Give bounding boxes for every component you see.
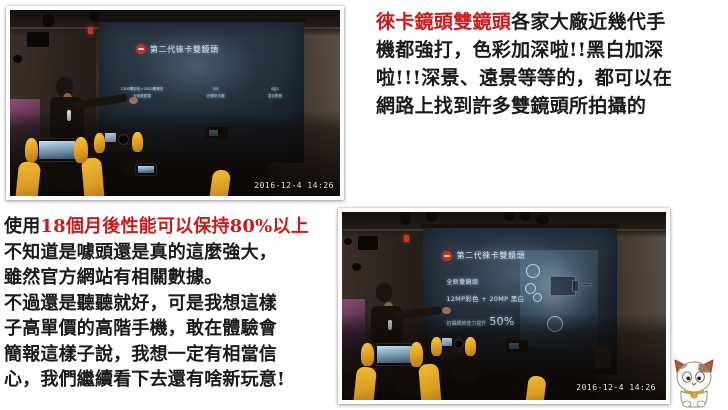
presenter-head [376,283,392,302]
audience-arm [209,169,232,196]
slide-column: 4合1 混合對焦 [268,86,282,100]
presentation-photo-bottom[interactable]: 第二代徠卡雙鏡頭 全新雙鏡頭 12MP彩色 + 20MP 黑白 拍攝細節能力提升… [338,208,670,404]
caption-text: 不知道是噱頭還是真的這麼強大， [4,242,277,263]
exit-sign-icon [404,235,409,242]
caption-line: 心，我們繼續看下去還有啥新玩意! [4,367,334,393]
photo-timestamp: 2016-12-4 14:26 [254,181,334,190]
photo-bottom-content: 第二代徠卡雙鏡頭 全新雙鏡頭 12MP彩色 + 20MP 黑白 拍攝細節能力提升… [342,212,666,400]
audience-arm [14,161,40,196]
photo-timestamp: 2016-12-4 14:26 [576,383,656,392]
security-camera-icon [13,55,22,63]
lens-ring-icon [533,293,542,302]
caption-line: 雖然官方網站有相關數據。 [4,265,334,291]
caption-line: 子高單價的高階手機，敢在體驗會 [4,316,334,342]
security-camera-icon [352,263,361,271]
slide-column-sub: 光學防手震 [207,93,225,100]
speaker-box-bottom [358,236,378,250]
slide-title-row-top: 第二代徠卡雙鏡頭 [136,44,219,55]
speaker-box-top [27,32,49,47]
slide-column: OIS 光學防手震 [207,86,225,100]
caption-text: 各家大廠近幾代手 [511,11,665,33]
caption-text: 使用 [4,216,40,237]
audience-head [452,355,482,383]
caption-line: 網路上找到許多雙鏡頭所拍攝的 [376,92,724,120]
bottom-left-caption: 使用18個月後性能可以保持80%以上 不知道是噱頭還是真的這麼強大， 雖然官方網… [4,214,334,393]
caption-text: 機都強打，色彩加深啦!!黑白加深 [376,39,663,61]
presentation-photo-top[interactable]: 第二代徠卡雙鏡頭 1200萬彩色+2000萬黑白 全新雙鏡頭 OIS 光學防手震… [6,6,344,200]
audience-phone-screen [377,346,411,363]
audience-phone-screen [138,166,154,173]
cat-mascot-icon [666,356,722,408]
slide-column-sub: 混合對焦 [268,93,282,100]
caption-highlight: 18個月後性能可以保持80%以上 [40,216,308,237]
audience-arm [353,366,377,400]
caption-line: 啦!!!深景、遠景等等的，都可以在 [376,64,724,92]
audience-hand [465,337,476,356]
top-right-caption: 徠卡鏡頭雙鏡頭各家大廠近幾代手 機都強打，色彩加深啦!!黑白加深 啦!!!深景、… [376,8,724,120]
caption-text: 子高單價的高階手機，敢在體驗會 [4,318,277,339]
leica-logo-icon [136,44,146,54]
caption-line: 徠卡鏡頭雙鏡頭各家大廠近幾代手 [376,8,724,36]
audience-hand [132,132,143,152]
presenter-arm [73,93,128,109]
audience-camera-screen [442,338,452,346]
lens-ring-icon [526,264,540,278]
ceiling-light-icon [504,212,515,221]
caption-text: 不過還是聽聽就好，可是我想這樣 [4,293,277,314]
ceiling-light-icon [400,212,411,225]
audience-phone[interactable] [36,138,78,162]
slide-column-main: OIS [207,86,225,93]
audience-hand [74,137,88,163]
camera-module-sensor [572,280,579,292]
leica-logo-icon [442,251,452,261]
caption-text: 雖然官方網站有相關數據。 [4,267,222,288]
audience-hand [361,343,374,366]
caption-text: 心，我們繼續看下去還有啥新玩意! [4,369,285,390]
caption-line: 機都強打，色彩加深啦!!黑白加深 [376,36,724,64]
slide-column-main: 4合1 [268,86,282,93]
caption-line: 不過還是聽聽就好，可是我想這樣 [4,291,334,317]
camera-lens-icon [454,339,464,349]
slide-title-text-bottom: 第二代徠卡雙鏡頭 [456,250,525,261]
caption-highlight: 徠卡鏡頭雙鏡頭 [376,11,511,33]
security-camera-icon [344,238,352,245]
camera-lens-icon [118,134,129,145]
slide-title-text-top: 第二代徠卡雙鏡頭 [150,44,219,55]
cat-mascot [666,356,722,408]
audience-hand [431,337,442,356]
audience-phone[interactable] [135,163,157,176]
caption-text: 簡報這樣子說，我想一定有相當信 [4,344,277,365]
audience-camera[interactable] [595,346,611,368]
caption-line: 使用18個月後性能可以保持80%以上 [4,214,334,240]
caption-text: 網路上找到許多雙鏡頭所拍攝的 [376,95,646,117]
presenter-hand [129,97,138,104]
ceiling-light-icon [43,14,54,27]
audience-camera-screen [105,133,116,142]
camera-module-connector [581,283,592,286]
audience-arm [418,363,442,400]
slide-title-row-bottom: 第二代徠卡雙鏡頭 [442,250,525,261]
page-root: 第二代徠卡雙鏡頭 1200萬彩色+2000萬黑白 全新雙鏡頭 OIS 光學防手震… [0,0,728,410]
audience-phone-screen [39,141,75,159]
audience-arm [525,375,547,400]
caption-line: 不知道是噱頭還是真的這麼強大， [4,240,334,266]
audience-hand [94,133,105,153]
audience-phone[interactable] [374,343,414,366]
audience-arm [81,158,105,196]
audience-camera[interactable] [439,334,467,355]
audience-hand [25,138,38,162]
caption-text: 啦!!!深景、遠景等等的，都可以在 [376,67,672,89]
audience-camera[interactable] [102,129,132,151]
exit-sign-icon [88,27,93,34]
caption-line: 簡報這樣子說，我想一定有相當信 [4,342,334,368]
audience-hand [410,342,423,367]
photo-top-content: 第二代徠卡雙鏡頭 1200萬彩色+2000萬黑白 全新雙鏡頭 OIS 光學防手震… [10,10,340,196]
